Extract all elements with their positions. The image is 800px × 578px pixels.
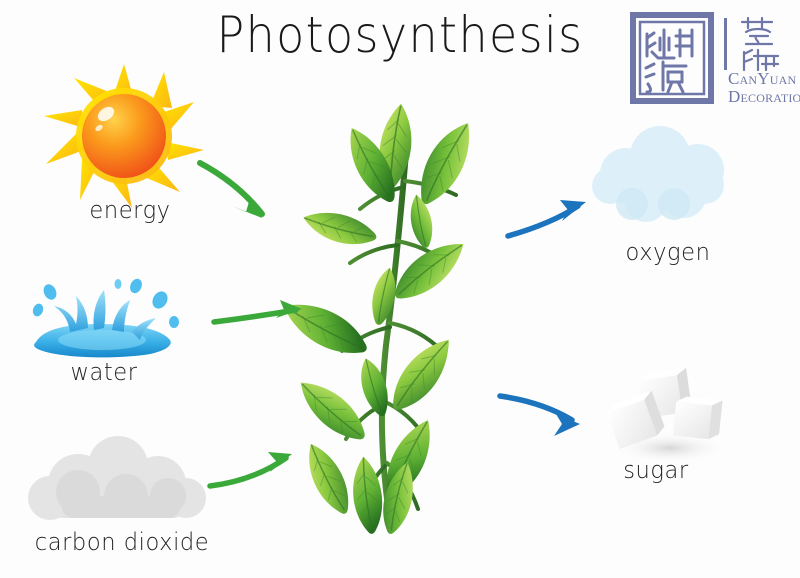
- sun-icon: [36, 58, 216, 208]
- logo-divider: [724, 18, 727, 70]
- label-carbon-dioxide: carbon dioxide: [7, 528, 236, 556]
- output-oxygen[interactable]: [588, 126, 746, 230]
- plant-illustration: [268, 95, 536, 535]
- gray-cloud-icon: [22, 440, 222, 532]
- input-energy[interactable]: [36, 58, 216, 208]
- label-water: water: [19, 358, 188, 386]
- label-sugar: sugar: [571, 456, 740, 484]
- brand-name: CanYuan Decoration: [728, 70, 800, 105]
- light-blue-cloud-icon: [588, 126, 746, 230]
- seal-icon: [630, 12, 714, 104]
- artistic-seal-icon: [732, 14, 790, 74]
- water-splash-icon: [14, 270, 194, 365]
- leafy-plant-icon: [268, 95, 536, 535]
- input-water[interactable]: [14, 270, 194, 365]
- label-energy: energy: [45, 196, 214, 224]
- brand-logo[interactable]: CanYuan Decoration: [628, 8, 796, 112]
- label-oxygen: oxygen: [583, 238, 752, 266]
- brand-line-2: Decoration: [728, 88, 800, 106]
- input-carbon-dioxide[interactable]: [22, 440, 222, 532]
- diagram-canvas: Photosynthesis: [0, 0, 800, 578]
- brand-line-1: CanYuan: [728, 70, 800, 88]
